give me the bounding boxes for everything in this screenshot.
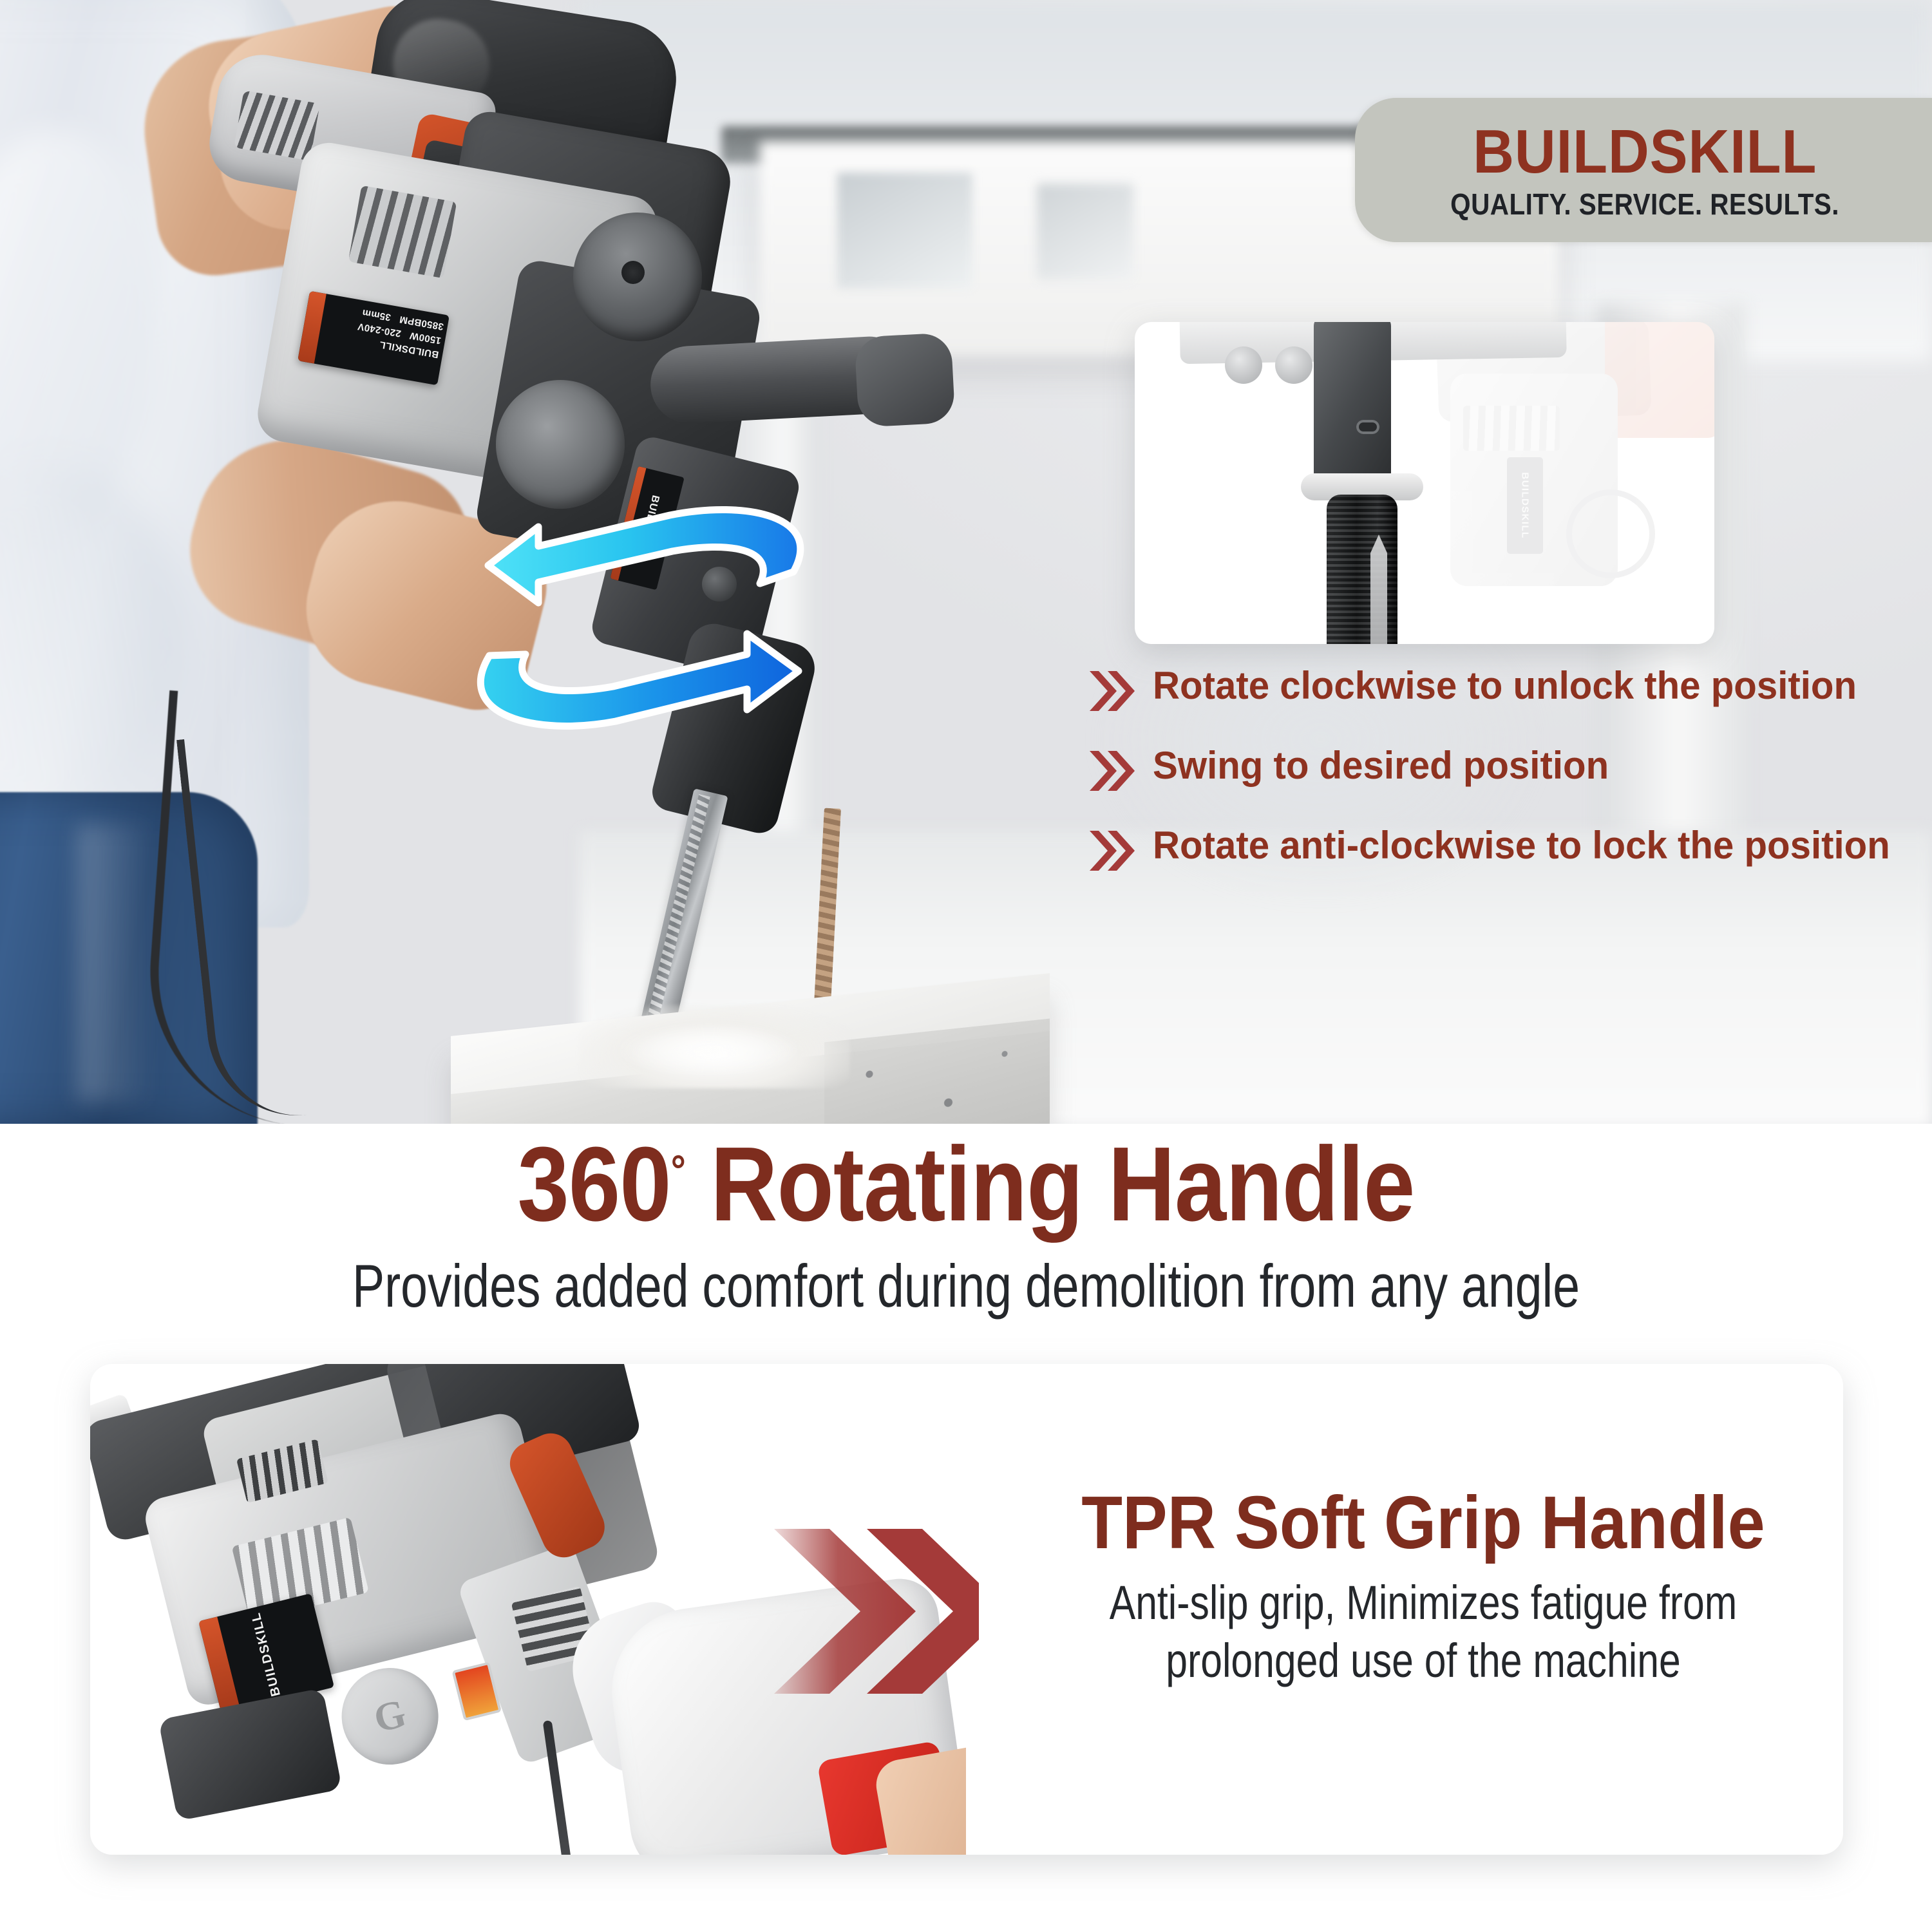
brand-tagline: QUALITY. SERVICE. RESULTS.: [1450, 189, 1839, 219]
ghost-tool-label: BUILDSKILL: [1507, 457, 1543, 554]
ghost-tool-head: [1605, 322, 1714, 438]
rotation-arrows-group: [412, 477, 889, 760]
page-subtitle: Provides added comfort during demolition…: [193, 1256, 1739, 1316]
background-window-secondary: [1037, 184, 1133, 280]
ghost-tool-dial: [1566, 489, 1655, 578]
jeans-highlight: [77, 824, 155, 1101]
ghost-tool-vents: [1463, 406, 1560, 451]
double-chevron-icon: [1088, 668, 1136, 714]
degree-symbol: °: [671, 1146, 685, 1193]
tpr-copy-block: TPR Soft Grip Handle Anti-slip grip, Min…: [1027, 1485, 1819, 1690]
card-tool-base: [158, 1688, 343, 1821]
inset-bolt-left: [1225, 346, 1262, 384]
brand-logo-badge: BUILDSKILL QUALITY. SERVICE. RESULTS.: [1355, 98, 1932, 242]
card-label-text: BUILDSKILL: [249, 1611, 284, 1698]
product-infographic: BUILDSKILL 1500W 220-240V 3850BPM 35mm: [0, 0, 1932, 1932]
list-item: Rotate clockwise to unlock the position: [1088, 663, 1919, 714]
inset-handle-bracket: [1314, 322, 1391, 483]
page-title: 360° Rotating Handle: [116, 1132, 1816, 1237]
tool-aux-handle-knob: [854, 332, 955, 428]
card-tool-mode-dial: G: [332, 1658, 449, 1775]
handle-detail-inset-panel: BUILDSKILL: [1135, 322, 1714, 644]
tool-collar-center: [621, 261, 645, 284]
headline-band: 360° Rotating Handle Provides added comf…: [0, 1124, 1932, 1378]
inset-bracket-slot: [1356, 420, 1379, 434]
tpr-subheading: Anti-slip grip, Minimizes fatigue from p…: [1099, 1574, 1748, 1690]
instruction-bullet-list: Rotate clockwise to unlock the position …: [1088, 663, 1919, 903]
tpr-subheading-line2: prolonged use of the machine: [1099, 1632, 1748, 1690]
tpr-heading: TPR Soft Grip Handle: [1067, 1485, 1780, 1560]
large-double-chevron-icon: [770, 1525, 983, 1699]
list-item: Rotate anti-clockwise to lock the positi…: [1088, 823, 1919, 873]
brand-name: BUILDSKILL: [1473, 121, 1817, 183]
clockwise-rotation-arrow: [488, 509, 800, 603]
double-chevron-icon: [1088, 828, 1136, 873]
double-chevron-icon: [1088, 748, 1136, 793]
concrete-dust-core: [618, 1024, 799, 1075]
inset-grip-highlight-strip: [1370, 535, 1387, 644]
title-number: 360: [518, 1125, 671, 1243]
tpr-grip-card: BUILDSKILL G: [90, 1364, 1843, 1855]
title-rest: Rotating Handle: [685, 1125, 1414, 1243]
hero-photo-section: BUILDSKILL 1500W 220-240V 3850BPM 35mm: [0, 0, 1932, 1124]
inset-bolt-right: [1275, 346, 1312, 384]
ghosted-tool-illustration: BUILDSKILL: [1412, 322, 1714, 644]
bullet-text: Rotate clockwise to unlock the position: [1153, 663, 1857, 708]
anti-clockwise-rotation-arrow: [480, 634, 799, 726]
bullet-text: Rotate anti-clockwise to lock the positi…: [1153, 823, 1890, 868]
dial-mark-label: G: [370, 1690, 411, 1743]
shirt-fold-lower: [0, 464, 187, 824]
bullet-text: Swing to desired position: [1153, 743, 1609, 788]
tpr-subheading-line1: Anti-slip grip, Minimizes fatigue from: [1099, 1574, 1748, 1632]
list-item: Swing to desired position: [1088, 743, 1919, 793]
tool-motor-vents: [348, 185, 457, 278]
ghost-label-text: BUILDSKILL: [1520, 472, 1531, 538]
